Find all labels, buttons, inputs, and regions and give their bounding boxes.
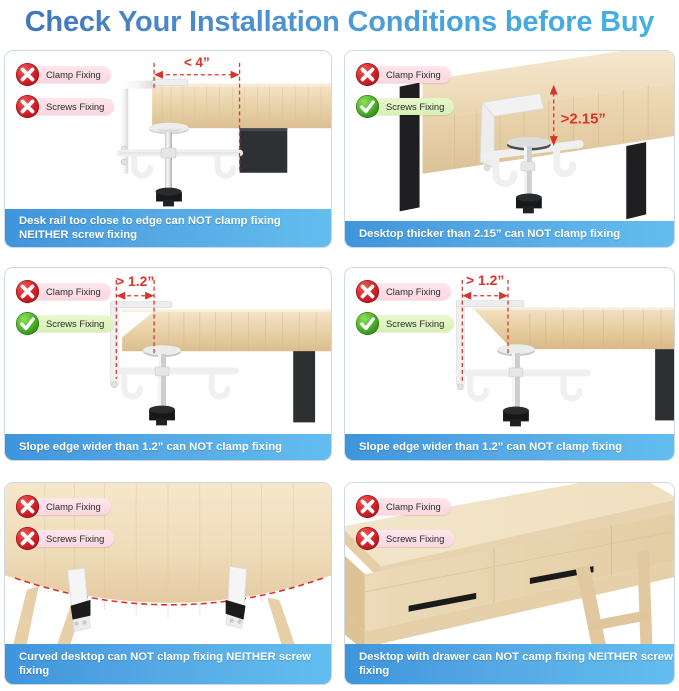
red-x-circle-icon bbox=[15, 279, 40, 304]
legend-screws-fixing: Screws Fixing bbox=[355, 526, 454, 551]
panel-4-legend: Clamp Fixing Screws Fixing bbox=[355, 279, 454, 343]
legend-clamp-fixing: Clamp Fixing bbox=[355, 494, 454, 519]
caption-line-2: NEITHER screw fixing bbox=[19, 228, 331, 242]
caption-line-1: Desk rail too close to edge can NOT clam… bbox=[19, 214, 331, 228]
panel-2-legend: Clamp Fixing Screws Fixing bbox=[355, 62, 454, 126]
legend-clamp-fixing: Clamp Fixing bbox=[15, 62, 114, 87]
panel-3-caption: Slope edge wider than 1.2” can NOT clamp… bbox=[5, 434, 331, 460]
panel-2-caption: Desktop thicker than 2.15” can NOT clamp… bbox=[345, 221, 674, 247]
panel-1-caption: Desk rail too close to edge can NOT clam… bbox=[5, 209, 331, 247]
caption-line-1: Slope edge wider than 1.2” can NOT clamp… bbox=[359, 440, 674, 454]
panel-thick-desktop: >2.15” Clamp Fixing bbox=[344, 50, 675, 248]
red-x-circle-icon bbox=[15, 526, 40, 551]
red-x-circle-icon bbox=[15, 62, 40, 87]
panel-desk-rail: < 4” Clamp Fixing bbox=[4, 50, 332, 248]
caption-line-1: Curved desktop can NOT clamp fixing NEIT… bbox=[19, 650, 331, 678]
legend-screws-fixing: Screws Fixing bbox=[15, 526, 114, 551]
panel-6-caption: Desktop with drawer can NOT camp fixing … bbox=[345, 644, 674, 684]
panel-4-caption: Slope edge wider than 1.2” can NOT clamp… bbox=[345, 434, 674, 460]
legend-clamp-fixing: Clamp Fixing bbox=[355, 279, 454, 304]
dimension-label-2: >2.15” bbox=[561, 111, 606, 127]
green-check-circle-icon bbox=[15, 311, 40, 336]
panel-slope-edge-right: > 1.2” Clamp Fixing Screws Fixing bbox=[344, 267, 675, 461]
red-x-circle-icon bbox=[355, 62, 380, 87]
green-check-circle-icon bbox=[355, 94, 380, 119]
dimension-label-1: < 4” bbox=[184, 55, 210, 70]
panel-5-legend: Clamp Fixing Screws Fixing bbox=[15, 494, 114, 558]
legend-clamp-fixing: Clamp Fixing bbox=[355, 62, 454, 87]
installation-conditions-infographic: Check Your Installation Conditions befor… bbox=[0, 0, 679, 691]
caption-line-1: Desktop thicker than 2.15” can NOT clamp… bbox=[359, 227, 674, 241]
red-x-circle-icon bbox=[355, 279, 380, 304]
caption-line-1: Desktop with drawer can NOT camp fixing … bbox=[359, 650, 674, 678]
red-x-circle-icon bbox=[15, 494, 40, 519]
legend-clamp-fixing: Clamp Fixing bbox=[15, 279, 114, 304]
panel-curved-desktop: Clamp Fixing Screws Fixing Curved deskto… bbox=[4, 482, 332, 685]
red-x-circle-icon bbox=[355, 494, 380, 519]
dimension-label-3: > 1.2” bbox=[116, 273, 154, 289]
panel-desktop-with-drawer: Clamp Fixing Screws Fixing Desktop with … bbox=[344, 482, 675, 685]
legend-screws-fixing: Screws Fixing bbox=[15, 94, 114, 119]
conditions-grid: < 4” Clamp Fixing bbox=[0, 46, 679, 691]
red-x-circle-icon bbox=[15, 94, 40, 119]
caption-line-1: Slope edge wider than 1.2” can NOT clamp… bbox=[19, 440, 331, 454]
panel-1-legend: Clamp Fixing Screws Fixing bbox=[15, 62, 114, 126]
red-x-circle-icon bbox=[355, 526, 380, 551]
legend-screws-fixing: Screws Fixing bbox=[355, 94, 454, 119]
green-check-circle-icon bbox=[355, 311, 380, 336]
legend-screws-fixing: Screws Fixing bbox=[15, 311, 114, 336]
page-title: Check Your Installation Conditions befor… bbox=[0, 0, 679, 44]
panel-slope-edge-left: > 1.2” Clamp Fixing Screws Fixing bbox=[4, 267, 332, 461]
panel-5-caption: Curved desktop can NOT clamp fixing NEIT… bbox=[5, 644, 331, 684]
panel-3-legend: Clamp Fixing Screws Fixing bbox=[15, 279, 114, 343]
legend-clamp-fixing: Clamp Fixing bbox=[15, 494, 114, 519]
panel-6-legend: Clamp Fixing Screws Fixing bbox=[355, 494, 454, 558]
dimension-label-4: > 1.2” bbox=[466, 272, 504, 288]
legend-screws-fixing: Screws Fixing bbox=[355, 311, 454, 336]
